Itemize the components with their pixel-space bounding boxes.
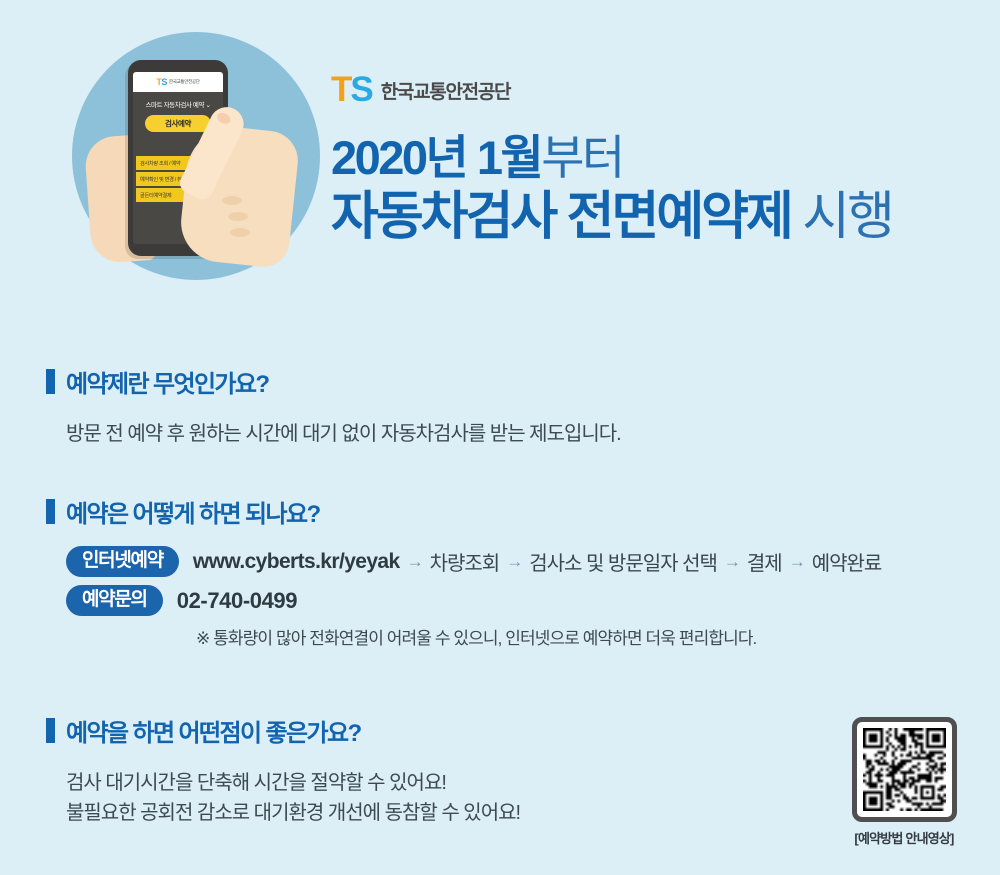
phone-logo-text: 한국교통안전공단 xyxy=(169,79,200,85)
section-how-to-reserve: 예약은 어떻게 하면 되나요? 인터넷예약 www.cyberts.kr/yey… xyxy=(0,494,1000,649)
internet-reservation-badge: 인터넷예약 xyxy=(66,546,179,577)
phone-inquiry-row: 예약문의 02-740-0499 xyxy=(66,585,1000,616)
section-1-title: 예약제란 무엇인가요? xyxy=(66,364,268,399)
phone-menu-label: 검사차량 조회 / 예약 xyxy=(140,160,180,167)
section-marker-bar xyxy=(46,718,55,743)
reservation-url-link[interactable]: www.cyberts.kr/yeyak xyxy=(193,550,400,574)
internet-reservation-row: 인터넷예약 www.cyberts.kr/yeyak → 차량조회 → 검사소 … xyxy=(66,546,1000,577)
qr-code-block: [예약방법 안내영상] xyxy=(840,717,968,847)
arrow-right-icon: → xyxy=(506,552,522,572)
headline-line1-light: 부터 xyxy=(541,131,622,184)
phone-ts-logo-icon: TS xyxy=(156,77,167,87)
qr-code-caption: [예약방법 안내영상] xyxy=(840,828,968,847)
phone-inquiry-note: ※ 통화량이 많아 전화연결이 어려울 수 있으니, 인터넷으로 예약하면 더욱… xyxy=(0,624,1000,649)
section-1-body: 방문 전 예약 후 원하는 시간에 대기 없이 자동차검사를 받는 제도입니다. xyxy=(0,419,1000,449)
flow-step: 결제 xyxy=(747,547,782,576)
section-marker-bar xyxy=(46,499,55,524)
phone-app-header: TS 한국교통안전공단 xyxy=(133,72,223,92)
hero-headline: 2020년 1월부터 자동차검사 전면예약제 시행 xyxy=(331,130,892,249)
phone-menu-label: 골든티예약결제 xyxy=(140,192,171,199)
section-3-title: 예약을 하면 어떤점이 좋은가요? xyxy=(66,713,361,748)
headline-line2-bold: 자동차검사 전면예약제 xyxy=(331,188,791,246)
phone-hand-illustration: TS 한국교통안전공단 스마트 자동차검사 예약 ⌄ 검사예약 검사차량 조회 … xyxy=(72,32,320,280)
arrow-right-icon: → xyxy=(789,552,805,572)
knuckle-shape xyxy=(230,228,250,237)
phone-number[interactable]: 02-740-0499 xyxy=(177,588,297,614)
ts-logo-icon: TS xyxy=(331,72,372,107)
phone-app-title: 스마트 자동차검사 예약 ⌄ xyxy=(133,92,223,113)
knuckle-shape xyxy=(228,212,248,221)
phone-inquiry-badge: 예약문의 xyxy=(66,585,163,616)
section-what-is-reservation: 예약제란 무엇인가요? 방문 전 예약 후 원하는 시간에 대기 없이 자동차검… xyxy=(0,364,1000,449)
arrow-right-icon: → xyxy=(724,552,740,572)
section-2-header: 예약은 어떻게 하면 되나요? xyxy=(0,494,1000,529)
knuckle-shape xyxy=(222,196,242,205)
headline-line-1: 2020년 1월부터 xyxy=(331,130,892,185)
flow-step: 차량조회 xyxy=(430,547,500,576)
section-marker-bar xyxy=(46,369,55,394)
flow-step: 검사소 및 방문일자 선택 xyxy=(529,547,717,576)
qr-code-frame[interactable] xyxy=(852,717,957,822)
poster-root: TS 한국교통안전공단 스마트 자동차검사 예약 ⌄ 검사예약 검사차량 조회 … xyxy=(0,0,1000,875)
ts-brand-logo: TS 한국교통안전공단 xyxy=(331,72,510,107)
reservation-methods: 인터넷예약 www.cyberts.kr/yeyak → 차량조회 → 검사소 … xyxy=(0,546,1000,616)
flow-step: 예약완료 xyxy=(812,547,882,576)
phone-reserve-button[interactable]: 검사예약 xyxy=(145,115,211,132)
headline-line2-light: 시행 xyxy=(791,188,892,246)
internet-reservation-flow: www.cyberts.kr/yeyak → 차량조회 → 검사소 및 방문일자… xyxy=(193,547,881,576)
qr-code-image xyxy=(863,728,946,811)
section-1-header: 예약제란 무엇인가요? xyxy=(0,364,1000,399)
hero-banner: TS 한국교통안전공단 스마트 자동차검사 예약 ⌄ 검사예약 검사차량 조회 … xyxy=(0,0,1000,330)
brand-name-label: 한국교통안전공단 xyxy=(381,77,510,107)
section-2-title: 예약은 어떻게 하면 되나요? xyxy=(66,494,320,529)
headline-line1-bold: 2020년 1월 xyxy=(331,131,541,184)
arrow-right-icon: → xyxy=(407,552,423,572)
headline-line-2: 자동차검사 전면예약제 시행 xyxy=(331,187,892,248)
